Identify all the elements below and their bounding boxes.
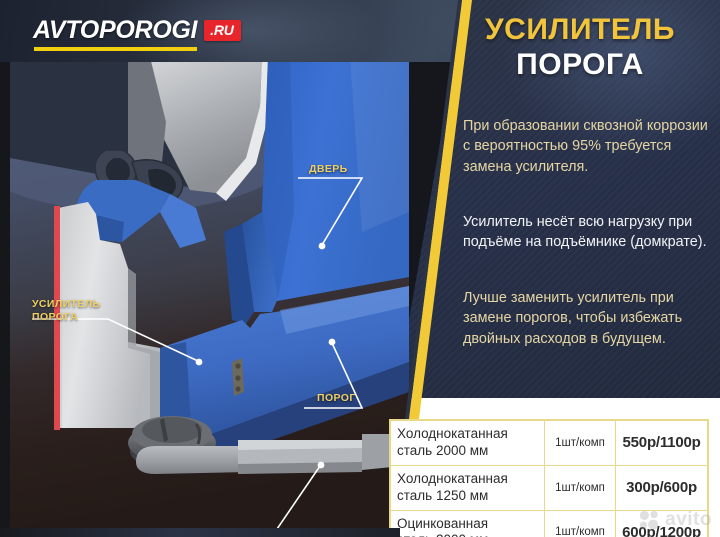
brand-logo[interactable]: AVTOPOROGI .RU <box>33 18 241 43</box>
cell-quantity: 1шт/комп <box>544 510 615 537</box>
cell-price: 550р/1100р <box>616 421 708 466</box>
material-line-2: сталь 2000 мм <box>397 443 538 460</box>
info-paragraph-3: Лучше заменить усилитель при замене поро… <box>463 288 711 349</box>
material-line-2: сталь 2000 мм <box>397 532 538 537</box>
label-sill: ПОРОГ <box>317 392 356 405</box>
title-line-1: УСИЛИТЕЛЬ <box>455 14 705 46</box>
brand-tld-badge: .RU <box>204 20 241 41</box>
title-line-2: ПОРОГА <box>455 48 705 81</box>
cell-price: 300р/600р <box>616 465 708 510</box>
weld-spot-2 <box>235 375 240 380</box>
lift-arm-pivot <box>136 446 248 474</box>
weld-spot-3 <box>235 386 240 391</box>
brand-underline <box>34 47 197 51</box>
info-paragraph-2: Усилитель несёт всю нагрузку при подъёме… <box>463 212 711 253</box>
infographic-page: AVTOPOROGI .RU УСИЛИТЕЛЬ ПОРОГА При обра… <box>0 0 720 537</box>
avito-watermark: avito <box>638 509 712 531</box>
material-line-1: Холоднокатанная <box>397 471 538 488</box>
material-line-1: Оцинкованная <box>397 516 538 533</box>
left-frame-border <box>0 62 10 537</box>
jack-pad-inner <box>142 417 202 443</box>
label-reinforcement-line-2: ПОРОГА <box>32 311 101 324</box>
label-door: ДВЕРЬ <box>309 163 348 176</box>
cell-quantity: 1шт/комп <box>544 421 615 466</box>
leader-dot-lift <box>318 462 325 469</box>
material-line-1: Холоднокатанная <box>397 426 538 443</box>
avito-logo-icon <box>638 509 660 531</box>
table-row: Холоднокатанная сталь 1250 мм 1шт/комп 3… <box>391 465 708 510</box>
leader-dot-sill <box>329 339 336 346</box>
leader-dot-reinforcement <box>196 359 203 366</box>
leader-dot-door <box>319 243 326 250</box>
brand-name: AVTOPOROGI <box>33 16 197 44</box>
info-paragraph-1: При образовании сквозной коррозии с веро… <box>463 116 711 177</box>
label-reinforcement-line-1: УСИЛИТЕЛЬ <box>32 298 101 311</box>
material-line-2: сталь 1250 мм <box>397 488 538 505</box>
avito-watermark-text: avito <box>665 509 712 531</box>
cell-material: Холоднокатанная сталь 2000 мм <box>391 421 545 466</box>
cross-section-svg <box>10 62 409 528</box>
weld-spot-1 <box>235 363 240 368</box>
table-row: Холоднокатанная сталь 2000 мм 1шт/комп 5… <box>391 421 708 466</box>
page-title: УСИЛИТЕЛЬ ПОРОГА <box>455 14 705 81</box>
cell-quantity: 1шт/комп <box>544 465 615 510</box>
cross-section-illustration: ДВЕРЬ УСИЛИТЕЛЬ ПОРОГА ПОРОГ ПОДЪЁМНИК <box>10 62 409 528</box>
cell-material: Оцинкованная сталь 2000 мм <box>391 510 545 537</box>
cell-material: Холоднокатанная сталь 1250 мм <box>391 465 545 510</box>
label-reinforcement: УСИЛИТЕЛЬ ПОРОГА <box>32 298 101 324</box>
bottom-strip <box>0 528 400 537</box>
lift-arm-beam-bottom <box>238 462 362 474</box>
